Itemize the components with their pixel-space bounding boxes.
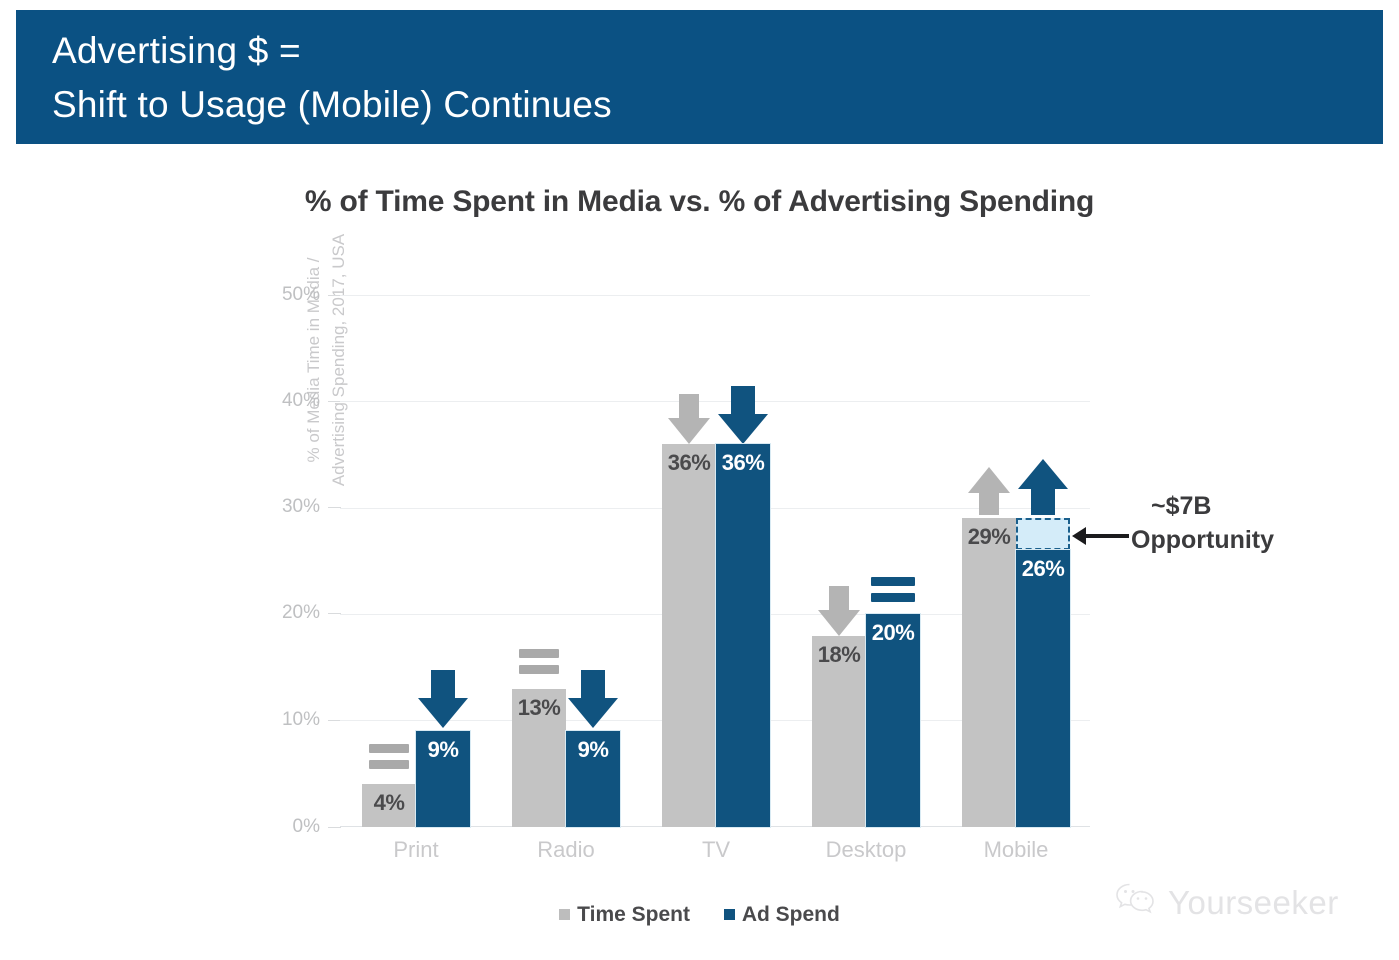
wechat-icon — [1114, 880, 1158, 926]
y-tick-label-30: 30% — [268, 496, 320, 518]
opportunity-arrow-icon — [1085, 534, 1129, 538]
y-tick-dash-0 — [328, 827, 341, 828]
trend-indicator-down-tv-ad-spend — [716, 386, 770, 444]
bar-tv-ad-spend[interactable]: 36% — [716, 444, 770, 827]
bar-value-mobile-ad-spend: 26% — [1016, 556, 1070, 582]
bar-radio-ad-spend[interactable]: 9% — [566, 731, 620, 827]
bar-desktop-ad-spend[interactable]: 20% — [866, 614, 920, 827]
trend-indicator-down-radio-ad-spend — [566, 670, 620, 728]
y-tick-label-40: 40% — [268, 390, 320, 412]
watermark-text: Yourseeker — [1168, 884, 1339, 922]
bar-group-mobile: 29% 26% Mobile — [962, 295, 1070, 827]
plot-area: 4% 9% Print 13% 9% — [340, 295, 1090, 827]
watermark: Yourseeker — [1114, 880, 1339, 926]
bar-group-radio: 13% 9% Radio — [512, 295, 620, 827]
bar-value-radio-time-spent: 13% — [512, 695, 566, 721]
legend-swatch-ad-spend — [724, 909, 735, 920]
bar-value-radio-ad-spend: 9% — [566, 737, 620, 763]
bar-value-desktop-time-spent: 18% — [812, 642, 866, 668]
y-tick-label-50: 50% — [268, 284, 320, 306]
bar-value-print-time-spent: 4% — [362, 790, 416, 816]
opportunity-amount: ~$7B — [1151, 492, 1211, 521]
bar-radio-time-spent[interactable]: 13% — [512, 689, 566, 827]
trend-indicator-equals-desktop-ad-spend — [866, 577, 920, 609]
bar-chart: % of Media Time in Media / Advertising S… — [0, 0, 1399, 960]
x-axis-label-mobile: Mobile — [962, 837, 1070, 863]
legend-swatch-time-spent — [559, 909, 570, 920]
bar-mobile-ad-spend[interactable]: 26% — [1016, 550, 1070, 827]
bar-tv-time-spent[interactable]: 36% — [662, 444, 716, 827]
legend-label-time-spent: Time Spent — [577, 903, 690, 926]
bar-print-time-spent[interactable]: 4% — [362, 784, 416, 827]
x-axis-label-desktop: Desktop — [812, 837, 920, 863]
bar-group-desktop: 18% 20% Desktop — [812, 295, 920, 827]
bar-value-print-ad-spend: 9% — [416, 737, 470, 763]
legend-label-ad-spend: Ad Spend — [742, 903, 840, 926]
x-axis-label-tv: TV — [662, 837, 770, 863]
bar-group-tv: 36% 36% TV — [662, 295, 770, 827]
x-axis-label-radio: Radio — [512, 837, 620, 863]
bar-mobile-time-spent[interactable]: 29% — [962, 518, 1016, 827]
trend-indicator-equals-radio-time-spent — [512, 649, 566, 681]
bar-group-print: 4% 9% Print — [362, 295, 470, 827]
x-axis-label-print: Print — [362, 837, 470, 863]
y-tick-label-20: 20% — [268, 602, 320, 624]
trend-indicator-up-mobile-ad-spend — [1016, 459, 1070, 515]
y-axis-title-line-1: % of Media Time in Media / — [301, 180, 326, 540]
trend-indicator-equals-print-time-spent — [362, 744, 416, 776]
bar-value-tv-ad-spend: 36% — [716, 450, 770, 476]
bar-value-mobile-time-spent: 29% — [962, 524, 1016, 550]
legend-item-time-spent[interactable]: Time Spent — [559, 903, 690, 927]
bar-print-ad-spend[interactable]: 9% — [416, 731, 470, 827]
opportunity-box[interactable] — [1016, 518, 1070, 550]
trend-indicator-down-desktop-time-spent — [812, 586, 866, 636]
bar-value-desktop-ad-spend: 20% — [866, 620, 920, 646]
trend-indicator-up-mobile-time-spent — [962, 467, 1016, 515]
legend-item-ad-spend[interactable]: Ad Spend — [724, 903, 840, 927]
bar-desktop-time-spent[interactable]: 18% — [812, 636, 866, 827]
y-tick-label-10: 10% — [268, 709, 320, 731]
bar-value-tv-time-spent: 36% — [662, 450, 716, 476]
opportunity-label: Opportunity — [1131, 526, 1274, 555]
trend-indicator-down-print-ad-spend — [416, 670, 470, 728]
y-tick-label-0: 0% — [268, 816, 320, 838]
trend-indicator-down-tv-time-spent — [662, 394, 716, 444]
